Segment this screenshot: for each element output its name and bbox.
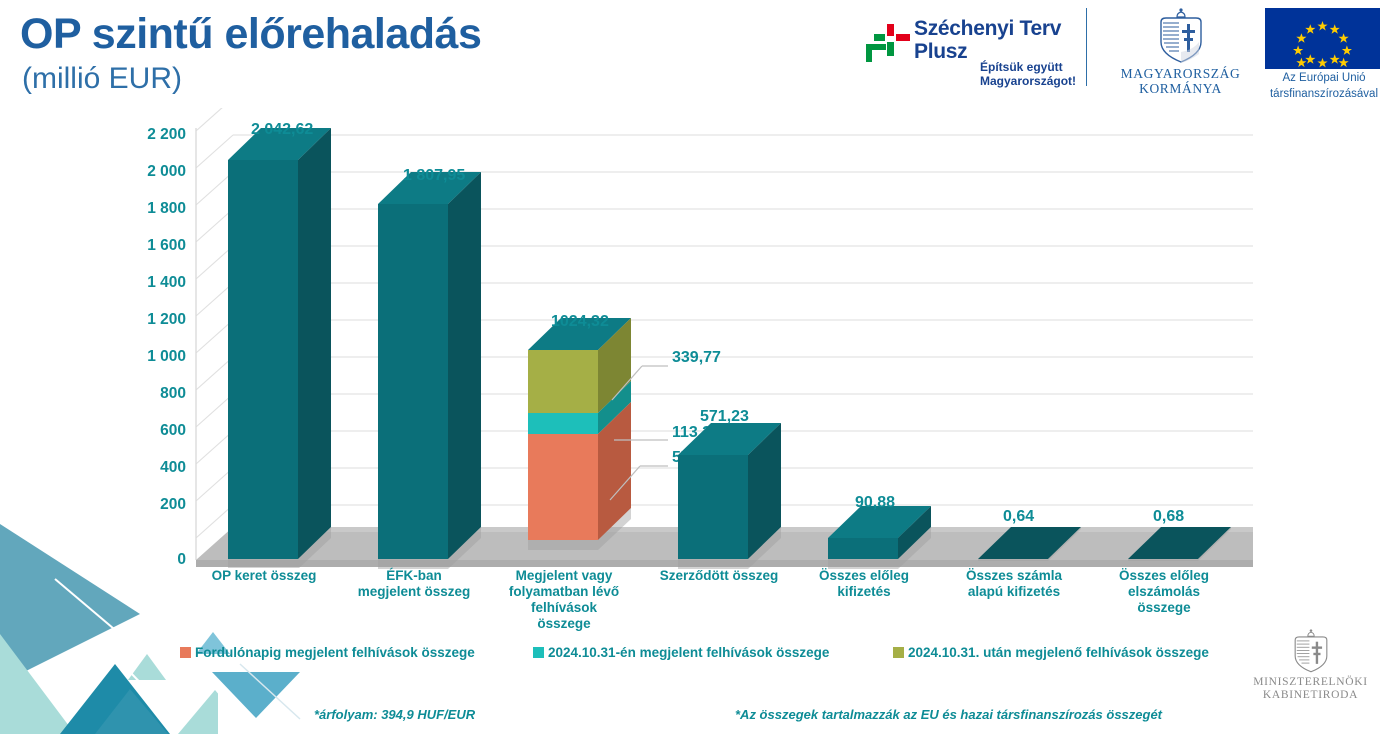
bar-label-osszes-eloleg-kifizetes: 90,88 <box>855 494 895 512</box>
coat-of-arms-icon <box>1157 8 1205 66</box>
y-tick-1600: 1 600 <box>108 237 186 255</box>
y-tick-200: 200 <box>108 496 186 514</box>
y-tick-1200: 1 200 <box>108 311 186 329</box>
catline: ÉFK-ban <box>340 568 488 584</box>
footnote-cofinancing: *Az összegek tartalmazzák az EU és hazai… <box>735 707 1162 722</box>
bar-label-efk-ban-megjelent-osszeg: 1 807,95 <box>403 167 465 185</box>
legend-item-fordulonapig[interactable]: Fordulónapig megjelent felhívások összeg… <box>180 645 475 660</box>
bar-szerzodott-osszeg[interactable] <box>678 423 813 573</box>
bar-label-osszes-eloleg-elszamolas-osszege: 0,68 <box>1153 508 1184 526</box>
catline: Szerződött összeg <box>640 568 798 584</box>
hungary-logo-line2: KORMÁNYA <box>1108 81 1253 96</box>
y-tick-600: 600 <box>108 422 186 440</box>
page-subtitle: (millió EUR) <box>22 62 182 96</box>
bar-efk-ban-megjelent-osszeg[interactable] <box>378 172 513 572</box>
catline: alapú kifizetés <box>940 584 1088 600</box>
catline: Megjelent vagy <box>490 568 638 584</box>
catline: Összes előleg <box>1090 568 1238 584</box>
eu-logo-line1: Az Európai Unió <box>1265 72 1383 85</box>
legend-item-2024-10-31-en[interactable]: 2024.10.31-én megjelent felhívások össze… <box>533 645 829 660</box>
bar-label-szerzodott-osszeg: 571,23 <box>700 408 749 426</box>
legend-label-2024-10-31-en: 2024.10.31-én megjelent felhívások össze… <box>548 645 829 660</box>
mk-logo-line1: MINISZTERELNÖKI <box>1243 676 1378 689</box>
szechenyi-terv-plusz-logo: Széchenyi Terv Plusz Építsük együtt Magy… <box>862 18 1072 90</box>
category-label-osszes-eloleg-elszamolas-osszege: Összes előleg elszámolás összege <box>1090 568 1238 616</box>
legend-swatch-cyan <box>533 647 544 658</box>
szechenyi-wordmark: Széchenyi Terv Plusz <box>914 18 1061 63</box>
legend-item-2024-10-31-utan[interactable]: 2024.10.31. után megjelenő felhívások ös… <box>893 645 1209 660</box>
y-tick-0: 0 <box>108 551 186 569</box>
szechenyi-mark-icon <box>862 22 914 74</box>
legend-swatch-olive <box>893 647 904 658</box>
szechenyi-line1: Széchenyi Terv <box>914 18 1061 40</box>
category-label-osszes-szamla-alapu-kifizetes: Összes számla alapú kifizetés <box>940 568 1088 600</box>
y-tick-1400: 1 400 <box>108 274 186 292</box>
catline: Összes számla <box>940 568 1088 584</box>
szechenyi-tagline-line2: Magyarországot! <box>980 74 1076 88</box>
european-union-logo: Az Európai Unió társfinanszírozásával <box>1265 8 1383 101</box>
catline: OP keret összeg <box>190 568 338 584</box>
category-label-efk-ban-megjelent-osszeg: ÉFK-ban megjelent összeg <box>340 568 488 600</box>
hungary-government-logo: MAGYARORSZÁG KORMÁNYA <box>1108 8 1253 96</box>
bar-label-osszes-szamla-alapu-kifizetes: 0,64 <box>1003 508 1034 526</box>
bar-label-op-keret-osszeg: 2 042,62 <box>251 121 313 139</box>
category-label-op-keret-osszeg: OP keret összeg <box>190 568 338 584</box>
y-tick-400: 400 <box>108 459 186 477</box>
legend-label-fordulonapig: Fordulónapig megjelent felhívások összeg… <box>195 645 475 660</box>
chart-legend: Fordulónapig megjelent felhívások összeg… <box>0 645 1386 665</box>
category-label-osszes-eloleg-kifizetes: Összes előleg kifizetés <box>790 568 938 600</box>
y-tick-800: 800 <box>108 385 186 403</box>
legend-label-2024-10-31-utan: 2024.10.31. után megjelenő felhívások ös… <box>908 645 1209 660</box>
eu-flag-icon <box>1265 8 1380 69</box>
catline: megjelent összeg <box>340 584 488 600</box>
catline: folyamatban lévő <box>490 584 638 600</box>
category-label-szerzodott-osszeg: Szerződött összeg <box>640 568 798 584</box>
catline: felhívások <box>490 600 638 616</box>
bar-op-keret-osszeg[interactable] <box>228 128 363 568</box>
miniszterelnoki-kabinetiroda-logo: MINISZTERELNÖKI KABINETIRODA <box>1243 628 1378 702</box>
y-tick-2000: 2 000 <box>108 163 186 181</box>
logo-divider <box>1086 8 1087 86</box>
bar-label-megjelent-total: 1024,32 <box>551 313 609 331</box>
page-title: OP szintű előrehaladás <box>20 10 481 59</box>
hungary-logo-line1: MAGYARORSZÁG <box>1108 66 1253 81</box>
eu-logo-line2: társfinanszírozásával <box>1265 88 1383 101</box>
category-label-megjelent-vagy-folyamatban: Megjelent vagy folyamatban lévő felhívás… <box>490 568 638 632</box>
catline: összege <box>1090 600 1238 616</box>
chart-3d-bar: 2 200 2 000 1 800 1 600 1 400 1 200 1 00… <box>0 108 1386 638</box>
footnote-exchange-rate: *árfolyam: 394,9 HUF/EUR <box>314 707 475 722</box>
y-tick-1000: 1 000 <box>108 348 186 366</box>
slide-root: OP szintű előrehaladás (millió EUR) Széc… <box>0 0 1386 734</box>
y-tick-2200: 2 200 <box>108 126 186 144</box>
segment-label-olive: 339,77 <box>672 349 721 367</box>
szechenyi-tagline-line1: Építsük együtt <box>980 60 1076 74</box>
y-tick-1800: 1 800 <box>108 200 186 218</box>
catline: elszámolás <box>1090 584 1238 600</box>
catline: Összes előleg <box>790 568 938 584</box>
coat-of-arms-grey-icon <box>1292 628 1330 676</box>
legend-swatch-salmon <box>180 647 191 658</box>
catline: összege <box>490 616 638 632</box>
catline: kifizetés <box>790 584 938 600</box>
mk-logo-line2: KABINETIRODA <box>1243 689 1378 702</box>
szechenyi-tagline: Építsük együtt Magyarországot! <box>980 60 1076 88</box>
